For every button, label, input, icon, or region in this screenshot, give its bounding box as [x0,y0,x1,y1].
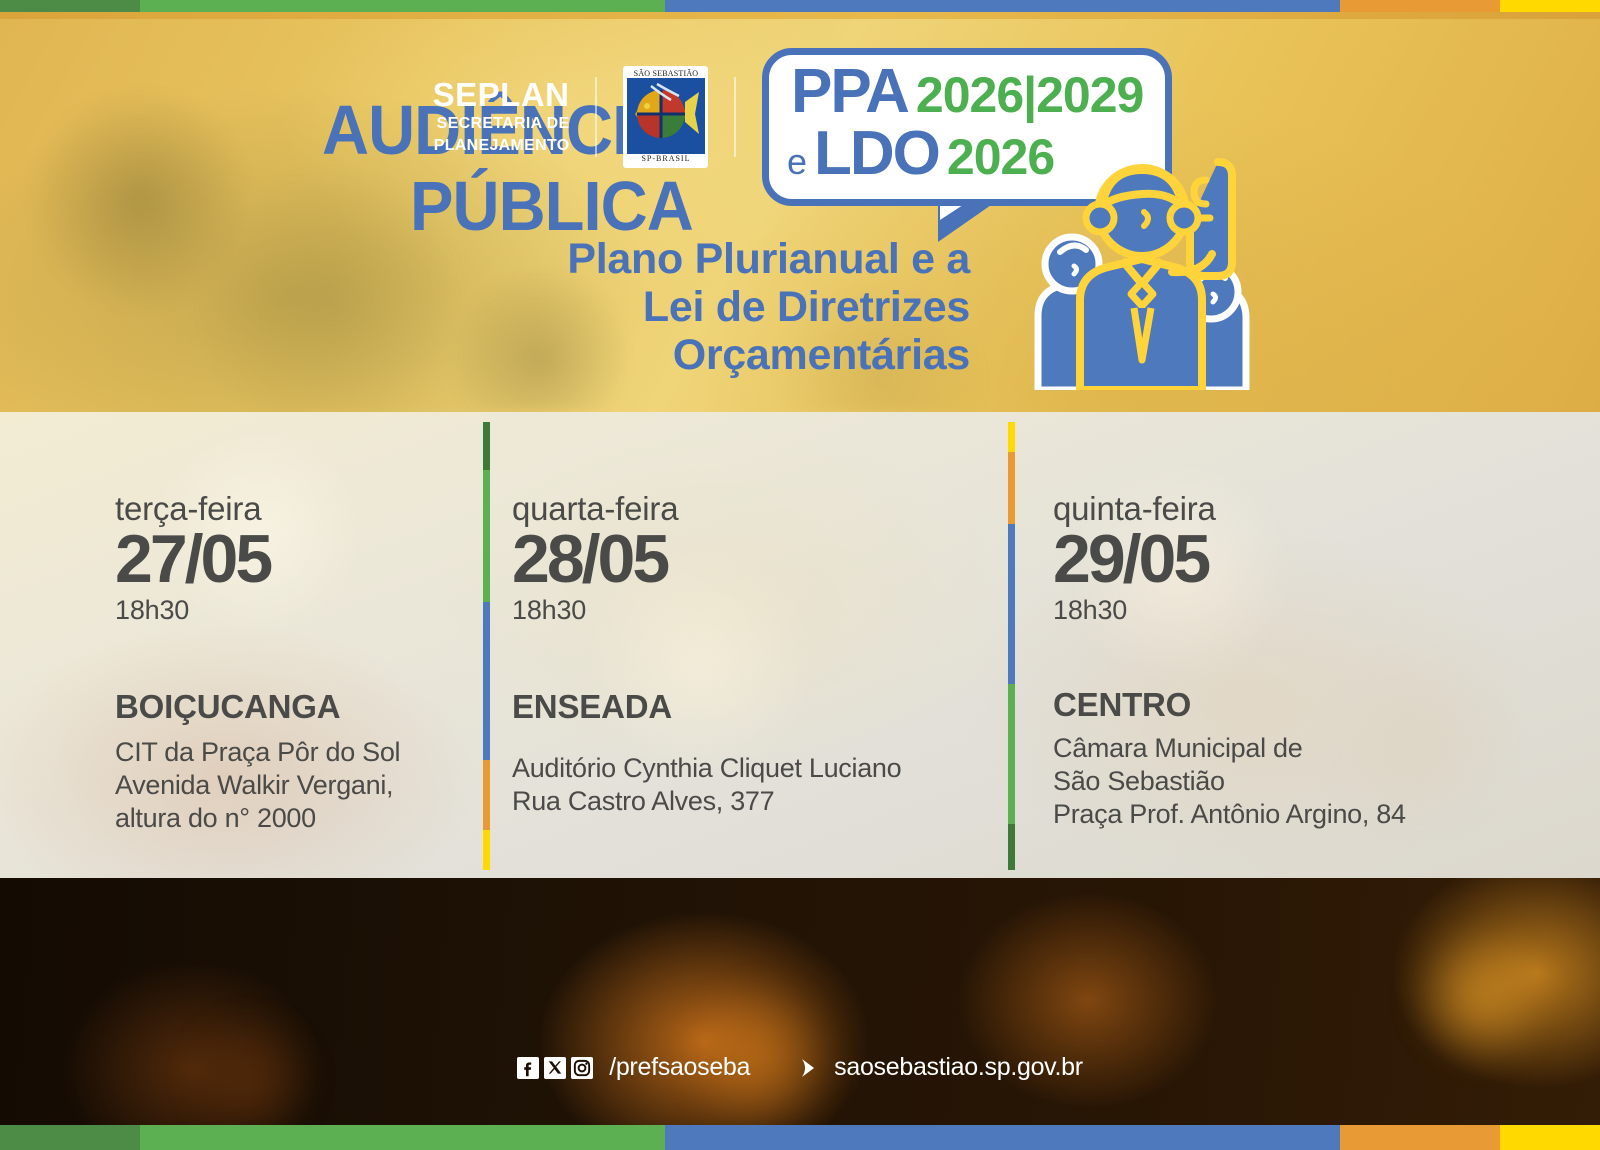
bottom-color-strip [0,1125,1600,1150]
session-address: CIT da Praça Pôr do Sol Avenida Walkir V… [115,736,490,835]
coat-of-arms-top-text: SÃO SEBASTIÃO [634,69,699,78]
session-address: Câmara Municipal de São Sebastião Praça … [1053,732,1600,831]
seplan-title: SEPLAN [433,78,570,111]
session-place: BOIÇUCANGA [115,688,490,726]
ppa-label: PPA [791,61,908,123]
address-line: Avenida Walkir Vergani, [115,769,490,802]
strip-segment-yellow [1500,0,1600,12]
session-column-1: terça-feira 27/05 18h30 BOIÇUCANGA CIT d… [0,412,490,878]
strip-segment-dark-green [0,0,140,12]
coat-of-arms: SÃO SEBASTIÃO SP-BRASIL [623,66,708,168]
strip-segment-yellow [1500,1125,1600,1150]
session-address: Auditório Cynthia Cliquet Luciano Rua Ca… [512,752,1013,818]
logo-divider [595,77,597,157]
footer-social-row: /prefsaoseba saosebastiao.sp.gov.br [0,1053,1600,1082]
logo-divider [734,77,736,157]
social-icon-group [517,1057,593,1079]
session-date: 29/05 [1053,526,1600,593]
instagram-icon[interactable] [571,1057,593,1079]
strip-segment-dark-green [0,1125,140,1150]
subtitle-line-1: Plano Plurianual e a [360,235,970,283]
address-line: Câmara Municipal de [1053,732,1600,765]
website-url[interactable]: saosebastiao.sp.gov.br [834,1053,1083,1082]
seplan-subtitle-line2: PLANEJAMENTO [433,137,570,156]
page-title-line2: PÚBLICA [410,174,714,238]
footer-section [0,878,1600,1150]
address-line: Rua Castro Alves, 377 [512,785,1013,818]
strip-segment-blue [665,1125,1340,1150]
conjunction-e: e [787,144,807,180]
session-place: CENTRO [1053,686,1600,724]
seplan-subtitle-line1: SECRETARIA DE [433,115,570,134]
poster-root: AUDIÊNCIA PÚBLICA PPA 2026|2029 e LDO 20… [0,0,1600,1150]
facebook-icon[interactable] [517,1057,539,1079]
subtitle-line-3: Orçamentárias [360,331,970,379]
session-time: 18h30 [1053,595,1600,626]
session-time: 18h30 [115,595,490,626]
x-twitter-icon[interactable] [544,1057,566,1079]
column-divider-right [1008,422,1015,870]
ldo-label: LDO [814,123,939,185]
ppa-years: 2026|2029 [916,70,1143,120]
subtitle-block: Plano Plurianual e a Lei de Diretrizes O… [360,235,970,379]
column-divider-left [483,422,490,870]
session-column-3: quinta-feira 29/05 18h30 CENTRO Câmara M… [1013,412,1600,878]
strip-segment-blue [665,0,1340,12]
title-text-publica: PÚBLICA [410,174,693,238]
strip-segment-green [140,0,665,12]
strip-segment-green [140,1125,665,1150]
strip-segment-orange [1340,1125,1500,1150]
footer-background-blur [0,878,1600,1150]
people-raising-hand-icon [1010,140,1270,390]
address-line: Praça Prof. Antônio Argino, 84 [1053,798,1600,831]
strip-segment-orange [1340,0,1500,12]
address-line: Auditório Cynthia Cliquet Luciano [512,752,1013,785]
sessions-section: terça-feira 27/05 18h30 BOIÇUCANGA CIT d… [0,412,1600,878]
bubble-row-ppa: PPA 2026|2029 [791,61,1143,123]
subtitle-line-2: Lei de Diretrizes [360,283,970,331]
coat-of-arms-fish-icon [627,78,705,154]
social-handle[interactable]: /prefsaoseba [609,1053,750,1082]
strip-underline [0,12,1600,19]
session-date: 27/05 [115,526,490,593]
seplan-logo: SEPLAN SECRETARIA DE PLANEJAMENTO [433,78,570,157]
chevron-right-icon [798,1056,818,1080]
coat-of-arms-bottom-text: SP-BRASIL [641,154,690,163]
sessions-columns: terça-feira 27/05 18h30 BOIÇUCANGA CIT d… [0,412,1600,878]
session-column-2: quarta-feira 28/05 18h30 ENSEADA Auditór… [490,412,1013,878]
top-color-strip [0,0,1600,12]
session-place: ENSEADA [512,688,1013,726]
address-line: São Sebastião [1053,765,1600,798]
session-time: 18h30 [512,595,1013,626]
address-line: altura do n° 2000 [115,802,490,835]
session-date: 28/05 [512,526,1013,593]
address-line: CIT da Praça Pôr do Sol [115,736,490,769]
